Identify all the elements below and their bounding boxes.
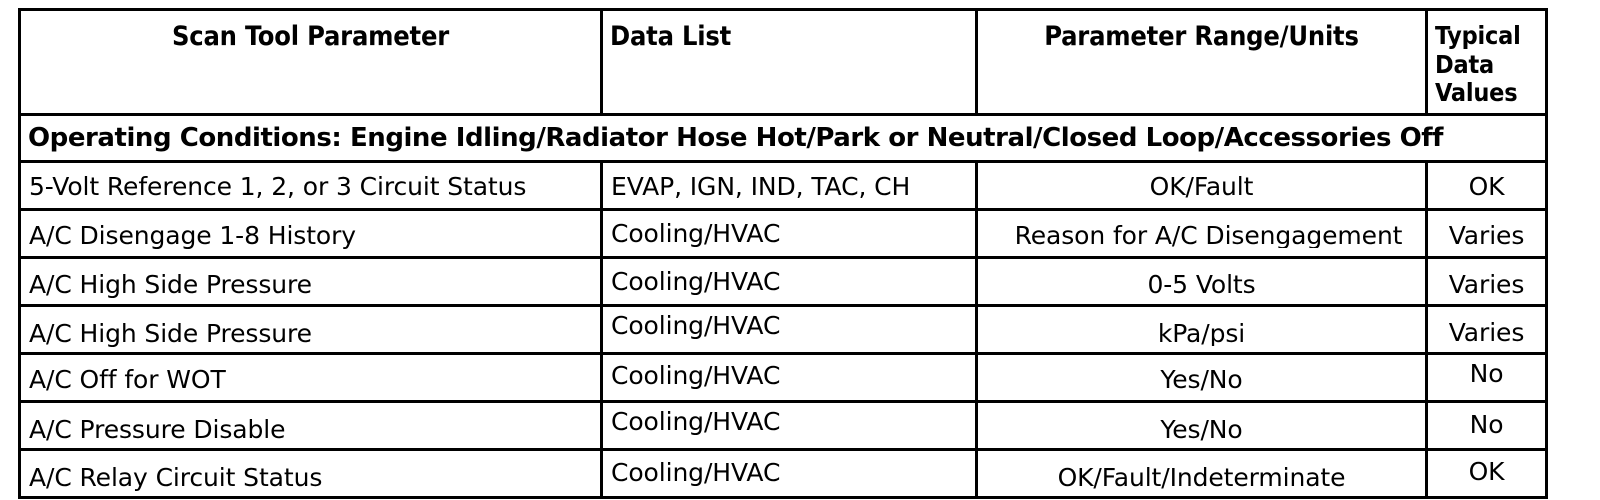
cell-range-units: kPa/psi — [977, 306, 1427, 354]
cell-data-list: Cooling/HVAC — [602, 210, 977, 258]
cell-typical-value: Varies — [1427, 258, 1547, 306]
parameter-text: A/C Disengage 1-8 History — [21, 211, 600, 248]
column-header-label: Data List — [603, 11, 975, 51]
cell-typical-value: OK — [1427, 450, 1547, 498]
typical-value-text: Varies — [1428, 211, 1545, 248]
cell-parameter: 5-Volt Reference 1, 2, or 3 Circuit Stat… — [20, 162, 602, 210]
typical-value-text: Varies — [1428, 307, 1545, 345]
document-page: Scan Tool Parameter Data List Parameter … — [0, 0, 1600, 500]
cell-data-list: EVAP, IGN, IND, TAC, CH — [602, 162, 977, 210]
cell-parameter: A/C Disengage 1-8 History — [20, 210, 602, 258]
cell-typical-value: OK — [1427, 162, 1547, 210]
range-units-text: Yes/No — [978, 355, 1425, 392]
typical-value-text: OK — [1428, 451, 1545, 484]
data-list-text: Cooling/HVAC — [603, 451, 975, 485]
column-header-data-list: Data List — [602, 10, 977, 115]
cell-parameter: A/C Relay Circuit Status — [20, 450, 602, 498]
typical-value-text: No — [1428, 403, 1545, 437]
cell-range-units: 0-5 Volts — [977, 258, 1427, 306]
column-header-label: Parameter Range/Units — [978, 11, 1425, 51]
typical-value-text: Varies — [1428, 259, 1545, 297]
column-header-typical-data-values: Typical Data Values — [1427, 10, 1547, 115]
cell-typical-value: Varies — [1427, 210, 1547, 258]
parameter-text: A/C High Side Pressure — [21, 259, 600, 297]
data-list-text: Cooling/HVAC — [603, 355, 975, 388]
table-row: A/C High Side Pressure Cooling/HVAC kPa/… — [20, 306, 1547, 354]
parameter-text: A/C Off for WOT — [21, 355, 600, 392]
cell-range-units: Yes/No — [977, 354, 1427, 402]
operating-conditions-row: Operating Conditions: Engine Idling/Radi… — [20, 115, 1547, 162]
table-row: A/C Disengage 1-8 History Cooling/HVAC R… — [20, 210, 1547, 258]
table-row: A/C Pressure Disable Cooling/HVAC Yes/No… — [20, 402, 1547, 450]
operating-conditions-text: Operating Conditions: Engine Idling/Radi… — [21, 116, 1545, 151]
cell-typical-value: No — [1427, 354, 1547, 402]
cell-range-units: OK/Fault/Indeterminate — [977, 450, 1427, 498]
column-header-scan-tool-parameter: Scan Tool Parameter — [20, 10, 602, 115]
range-units-text: OK/Fault — [978, 163, 1425, 199]
column-header-label: Typical Data Values — [1428, 11, 1545, 108]
table-row: 5-Volt Reference 1, 2, or 3 Circuit Stat… — [20, 162, 1547, 210]
data-list-text: Cooling/HVAC — [603, 403, 975, 434]
table-row: A/C Relay Circuit Status Cooling/HVAC OK… — [20, 450, 1547, 498]
operating-conditions-cell: Operating Conditions: Engine Idling/Radi… — [20, 115, 1547, 162]
range-units-text: Yes/No — [978, 403, 1425, 442]
range-units-text: kPa/psi — [978, 307, 1425, 346]
column-header-label: Scan Tool Parameter — [21, 11, 600, 51]
cell-parameter: A/C Off for WOT — [20, 354, 602, 402]
table-row: A/C High Side Pressure Cooling/HVAC 0-5 … — [20, 258, 1547, 306]
cell-parameter: A/C High Side Pressure — [20, 306, 602, 354]
cell-parameter: A/C Pressure Disable — [20, 402, 602, 450]
parameter-text: A/C Pressure Disable — [21, 403, 600, 442]
cell-data-list: Cooling/HVAC — [602, 258, 977, 306]
scan-tool-parameter-table: Scan Tool Parameter Data List Parameter … — [18, 8, 1548, 499]
column-header-parameter-range-units: Parameter Range/Units — [977, 10, 1427, 115]
parameter-text: 5-Volt Reference 1, 2, or 3 Circuit Stat… — [21, 163, 600, 199]
data-list-text: Cooling/HVAC — [603, 307, 975, 338]
range-units-text: 0-5 Volts — [978, 259, 1425, 297]
parameter-text: A/C Relay Circuit Status — [21, 451, 600, 490]
typical-value-text: No — [1428, 355, 1545, 386]
cell-range-units: Reason for A/C Disengagement — [977, 210, 1427, 258]
typical-value-text: OK — [1428, 163, 1545, 199]
cell-data-list: Cooling/HVAC — [602, 450, 977, 498]
cell-range-units: OK/Fault — [977, 162, 1427, 210]
data-list-text: Cooling/HVAC — [603, 259, 975, 294]
parameter-text: A/C High Side Pressure — [21, 307, 600, 346]
data-list-text: EVAP, IGN, IND, TAC, CH — [603, 163, 975, 199]
table-row: A/C Off for WOT Cooling/HVAC Yes/No No — [20, 354, 1547, 402]
cell-data-list: Cooling/HVAC — [602, 402, 977, 450]
cell-range-units: Yes/No — [977, 402, 1427, 450]
range-units-text: Reason for A/C Disengagement — [978, 211, 1425, 248]
cell-data-list: Cooling/HVAC — [602, 306, 977, 354]
data-list-text: Cooling/HVAC — [603, 211, 975, 246]
range-units-text: OK/Fault/Indeterminate — [978, 451, 1425, 490]
cell-typical-value: No — [1427, 402, 1547, 450]
table-header-row: Scan Tool Parameter Data List Parameter … — [20, 10, 1547, 115]
cell-typical-value: Varies — [1427, 306, 1547, 354]
cell-data-list: Cooling/HVAC — [602, 354, 977, 402]
cell-parameter: A/C High Side Pressure — [20, 258, 602, 306]
